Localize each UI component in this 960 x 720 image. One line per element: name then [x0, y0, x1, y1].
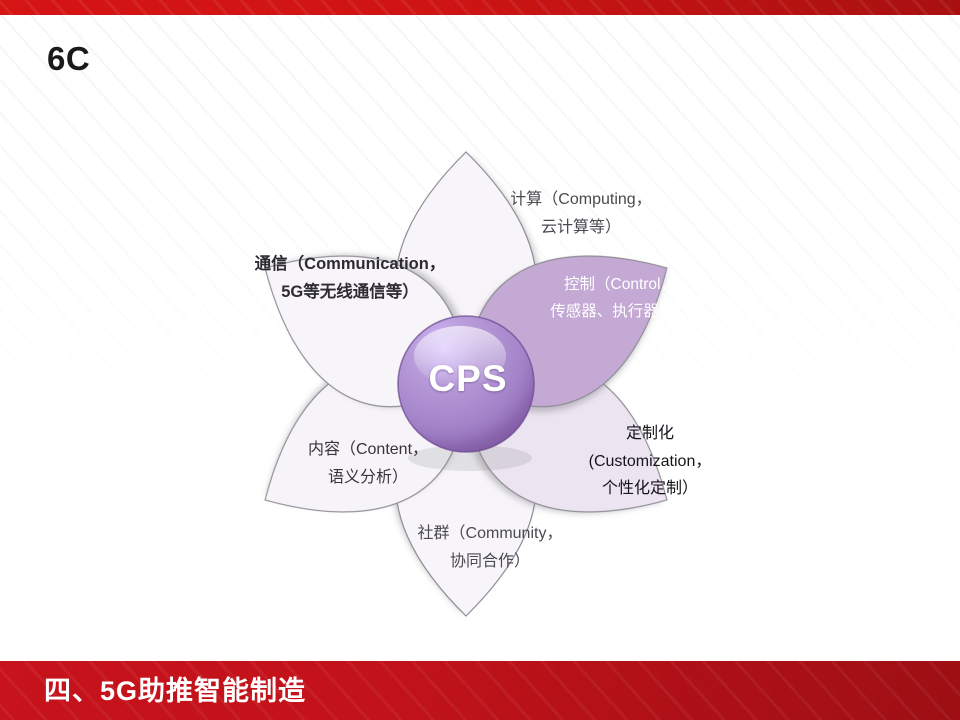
top-bar-stripes [0, 0, 960, 15]
top-accent-bar [0, 0, 960, 15]
flower-svg [180, 80, 760, 650]
petal-group [230, 152, 702, 616]
slide-canvas: 6C [0, 0, 960, 720]
footer-section-title: 四、5G助推智能制造 [44, 678, 306, 705]
petal-flower-diagram: 计算（Computing， 云计算等） 控制（Control， 传感器、执行器等… [180, 80, 760, 650]
page-title: 6C [47, 42, 90, 75]
